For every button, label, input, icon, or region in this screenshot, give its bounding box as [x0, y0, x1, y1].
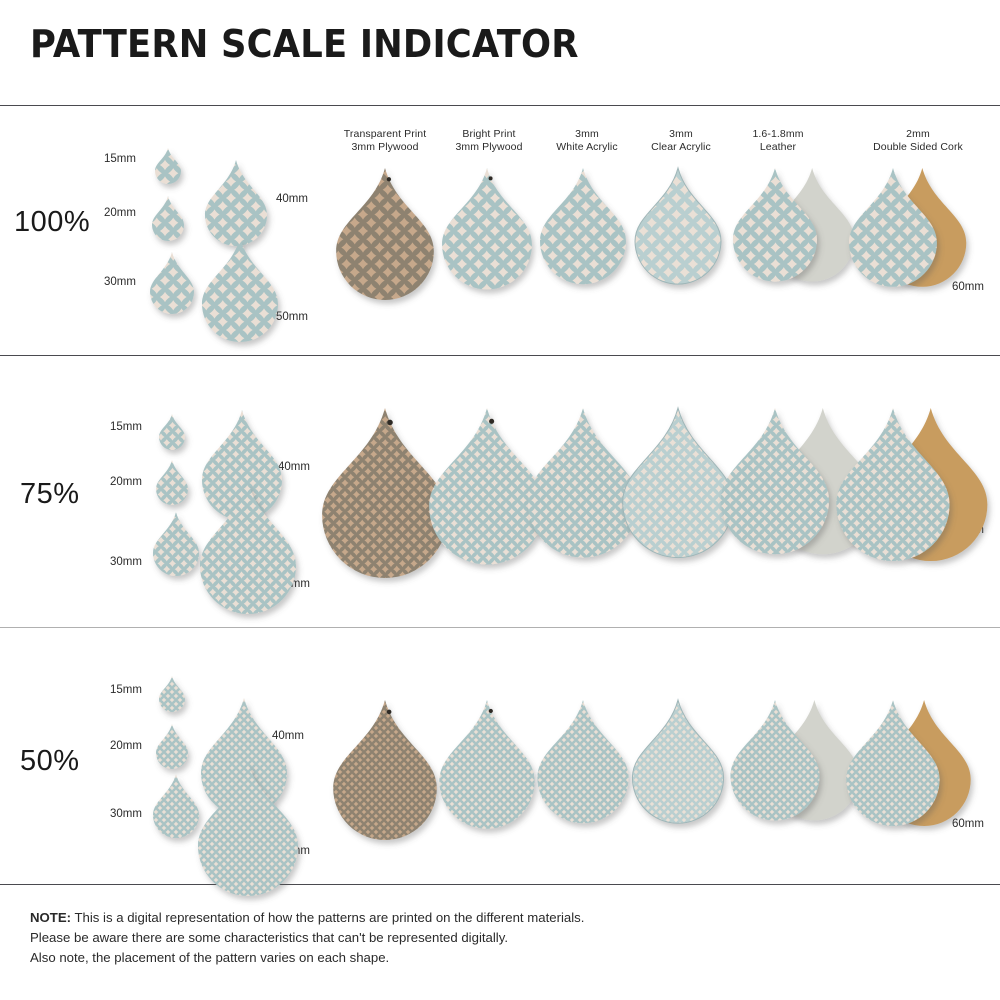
size-label-40mm-row50: 40mm	[272, 730, 304, 742]
page-title: PATTERN SCALE INDICATOR	[30, 22, 579, 66]
column-header-line1: 2mm	[843, 128, 993, 141]
note-text-1: This is a digital representation of how …	[71, 910, 584, 925]
size-label-15mm-row75: 15mm	[110, 421, 142, 433]
size-label-50mm-row50: 50mm	[278, 845, 310, 857]
size-label-60mm-row75: 60mm	[952, 524, 984, 536]
note-line-1: NOTE: This is a digital representation o…	[30, 908, 584, 928]
size-label-15mm-row50: 15mm	[110, 684, 142, 696]
size-label-30mm-row75: 30mm	[110, 556, 142, 568]
size-label-40mm-row100: 40mm	[276, 193, 308, 205]
scale-label-75: 75%	[20, 478, 80, 511]
divider-row-75	[0, 627, 1000, 628]
size-label-20mm-row100: 20mm	[104, 207, 136, 219]
column-header-line2: Leather	[703, 141, 853, 154]
column-header-double-sided-cork: 2mm Double Sided Cork	[843, 128, 993, 154]
note-line-2: Please be aware there are some character…	[30, 928, 584, 948]
divider-row-50	[0, 884, 1000, 885]
note-block: NOTE: This is a digital representation o…	[30, 908, 584, 968]
note-label: NOTE:	[30, 910, 71, 925]
size-label-30mm-row50: 30mm	[110, 808, 142, 820]
pattern-scale-indicator-sheet: PATTERN SCALE INDICATOR Transparent Prin…	[0, 0, 1000, 1000]
size-label-60mm-row50: 60mm	[952, 818, 984, 830]
size-label-40mm-row75: 40mm	[278, 461, 310, 473]
divider-row-100	[0, 355, 1000, 356]
size-label-60mm-row100: 60mm	[952, 281, 984, 293]
size-label-20mm-row50: 20mm	[110, 740, 142, 752]
column-header-line1: 1.6-1.8mm	[703, 128, 853, 141]
size-label-50mm-row100: 50mm	[276, 311, 308, 323]
column-header-line2: Double Sided Cork	[843, 141, 993, 154]
scale-label-50: 50%	[20, 745, 80, 778]
column-header-leather: 1.6-1.8mm Leather	[703, 128, 853, 154]
scale-label-100: 100%	[14, 206, 90, 239]
note-line-3: Also note, the placement of the pattern …	[30, 948, 584, 968]
divider-top	[0, 105, 1000, 106]
size-label-50mm-row75: 50mm	[278, 578, 310, 590]
size-label-30mm-row100: 30mm	[104, 276, 136, 288]
size-label-20mm-row75: 20mm	[110, 476, 142, 488]
size-label-15mm-row100: 15mm	[104, 153, 136, 165]
